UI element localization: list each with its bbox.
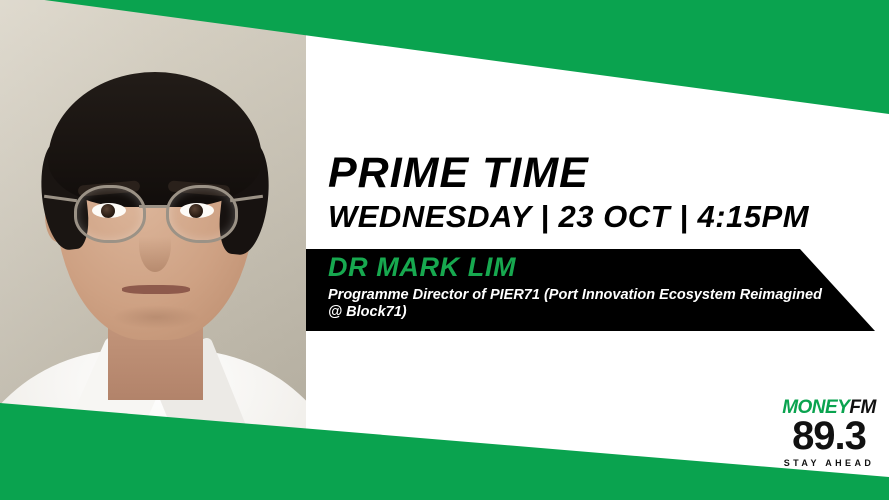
promo-graphic: PRIME TIME WEDNESDAY | 23 OCT | 4:15PM D… xyxy=(0,0,889,500)
moneyfm-logo: MONEYFM 89.3 STAY AHEAD xyxy=(775,398,883,480)
show-schedule: WEDNESDAY | 23 OCT | 4:15PM xyxy=(328,199,809,235)
show-title-block: PRIME TIME WEDNESDAY | 23 OCT | 4:15PM xyxy=(328,152,809,235)
logo-frequency: 89.3 xyxy=(775,418,883,455)
show-title: PRIME TIME xyxy=(328,152,809,195)
guest-info-block: DR MARK LIM Programme Director of PIER71… xyxy=(328,253,848,322)
logo-tagline: STAY AHEAD xyxy=(775,458,883,468)
guest-role: Programme Director of PIER71 (Port Innov… xyxy=(328,287,840,321)
guest-name: DR MARK LIM xyxy=(328,253,848,281)
decorative-shapes xyxy=(0,0,889,500)
